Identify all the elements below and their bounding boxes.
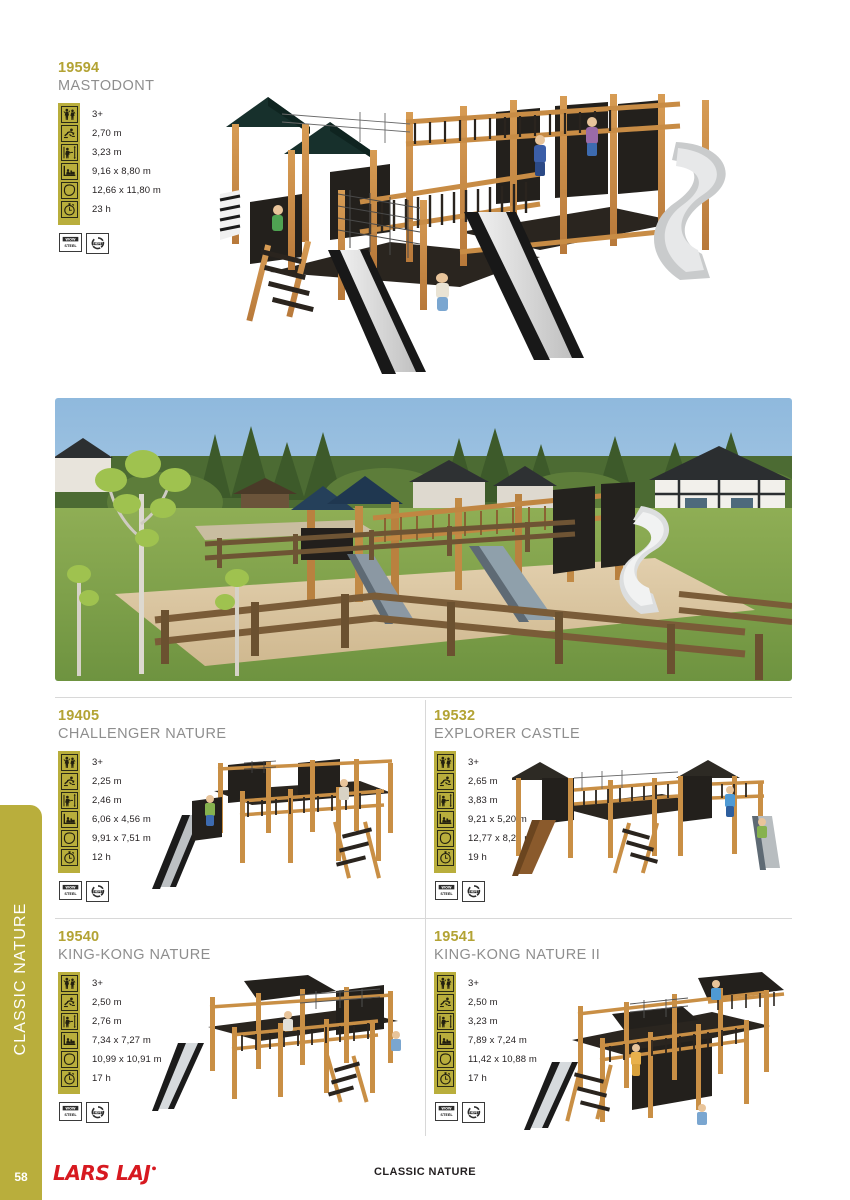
svg-text:WOW: WOW bbox=[65, 886, 76, 890]
fall-height-icon bbox=[61, 994, 78, 1011]
installation-time-icon bbox=[61, 201, 78, 218]
svg-text:WOW: WOW bbox=[65, 238, 76, 242]
footer-section-name: CLASSIC NATURE bbox=[0, 1166, 850, 1178]
spec-row bbox=[59, 124, 79, 143]
svg-text:HDPE: HDPE bbox=[94, 1111, 101, 1114]
spec-value: 2,70 m bbox=[92, 124, 122, 143]
spec-row bbox=[59, 200, 79, 219]
installation-time-icon bbox=[437, 1070, 454, 1087]
recycling-badge: HDPE bbox=[462, 1102, 485, 1123]
spec-row bbox=[435, 848, 455, 867]
spec-value: 3+ bbox=[92, 974, 103, 993]
wow-steel-badge: WOW STEEL bbox=[435, 881, 458, 900]
spec-value: 3,23 m bbox=[468, 1012, 498, 1031]
safety-zone-area-icon bbox=[437, 830, 454, 847]
spec-value: 6,06 x 4,56 m bbox=[92, 810, 151, 829]
spec-value: 2,50 m bbox=[92, 993, 122, 1012]
product-name: CHALLENGER NATURE bbox=[58, 726, 248, 742]
fall-height-icon bbox=[437, 994, 454, 1011]
spec-row bbox=[59, 829, 79, 848]
safety-zone-area-icon bbox=[61, 182, 78, 199]
spec-value: 3+ bbox=[468, 974, 479, 993]
product-code: 19541 bbox=[434, 929, 624, 945]
installation-time-icon bbox=[437, 849, 454, 866]
spec-icon-column bbox=[58, 751, 80, 873]
spec-value: 17 h bbox=[468, 1069, 487, 1088]
spec-value: 2,65 m bbox=[468, 772, 498, 791]
svg-text:HDPE: HDPE bbox=[470, 1111, 477, 1114]
product-render-king-kong-nature-ii bbox=[512, 962, 792, 1137]
spec-row bbox=[59, 848, 79, 867]
equipment-footprint-icon bbox=[61, 1032, 78, 1049]
spec-row bbox=[59, 143, 79, 162]
figure-child bbox=[391, 1031, 401, 1051]
product-name: EXPLORER CASTLE bbox=[434, 726, 624, 742]
certification-badges: WOW STEEL HDPE bbox=[59, 233, 109, 254]
certification-badges: WOW STEEL HDPE bbox=[435, 1102, 485, 1123]
equipment-height-icon bbox=[437, 1013, 454, 1030]
recycling-badge: HDPE bbox=[86, 881, 109, 902]
spec-row bbox=[435, 810, 455, 829]
safety-zone-area-icon bbox=[61, 830, 78, 847]
recycling-badge: HDPE bbox=[86, 1102, 109, 1123]
certification-badges: WOW STEEL HDPE bbox=[59, 881, 109, 902]
spec-row bbox=[59, 162, 79, 181]
product-name: KING-KONG NATURE II bbox=[434, 947, 624, 963]
spec-icon-column bbox=[434, 751, 456, 873]
equipment-footprint-icon bbox=[61, 163, 78, 180]
safety-zone-area-icon bbox=[437, 1051, 454, 1068]
product-render-king-kong-nature bbox=[148, 975, 416, 1125]
equipment-height-icon bbox=[437, 792, 454, 809]
column-divider bbox=[425, 700, 426, 1136]
spec-row bbox=[435, 1050, 455, 1069]
figure-child bbox=[339, 779, 349, 800]
product-name: KING-KONG NATURE bbox=[58, 947, 248, 963]
equipment-footprint-icon bbox=[61, 811, 78, 828]
installation-time-icon bbox=[61, 849, 78, 866]
spec-row bbox=[59, 1012, 79, 1031]
spec-row bbox=[59, 993, 79, 1012]
spec-value: 7,34 x 7,27 m bbox=[92, 1031, 151, 1050]
spec-row bbox=[435, 974, 455, 993]
spec-value: 9,16 x 8,80 m bbox=[92, 162, 151, 181]
wow-steel-badge: WOW STEEL bbox=[59, 233, 82, 252]
certification-badges: WOW STEEL HDPE bbox=[435, 881, 485, 902]
equipment-height-icon bbox=[61, 1013, 78, 1030]
spec-row bbox=[59, 105, 79, 124]
product-render-mastodont bbox=[210, 82, 750, 382]
spec-value: 2,25 m bbox=[92, 772, 122, 791]
spec-icon-column bbox=[434, 972, 456, 1094]
figure-child bbox=[205, 795, 215, 826]
spec-value: 3,83 m bbox=[468, 791, 498, 810]
spec-value: 17 h bbox=[92, 1069, 111, 1088]
figure-child bbox=[283, 1011, 293, 1031]
spec-value: 3+ bbox=[468, 753, 479, 772]
svg-text:HDPE: HDPE bbox=[94, 242, 101, 245]
spec-row bbox=[59, 181, 79, 200]
section-divider bbox=[55, 918, 792, 919]
spec-value: 2,50 m bbox=[468, 993, 498, 1012]
spec-icon-column bbox=[58, 972, 80, 1094]
spec-value: 9,91 x 7,51 m bbox=[92, 829, 151, 848]
spec-value: 19 h bbox=[468, 848, 487, 867]
equipment-height-icon bbox=[61, 792, 78, 809]
fall-height-icon bbox=[437, 773, 454, 790]
svg-text:WOW: WOW bbox=[441, 1107, 452, 1111]
age-group-icon bbox=[61, 106, 78, 123]
spec-value: 2,76 m bbox=[92, 1012, 122, 1031]
product-render-explorer-castle bbox=[512, 750, 784, 905]
spec-row bbox=[435, 753, 455, 772]
figure-child bbox=[631, 1044, 641, 1076]
safety-zone-area-icon bbox=[61, 1051, 78, 1068]
spec-row bbox=[435, 829, 455, 848]
spec-row bbox=[59, 791, 79, 810]
spec-value: 3+ bbox=[92, 105, 103, 124]
recycling-badge: HDPE bbox=[462, 881, 485, 902]
age-group-icon bbox=[437, 975, 454, 992]
spec-row bbox=[435, 1012, 455, 1031]
wow-steel-badge: WOW STEEL bbox=[435, 1102, 458, 1121]
catalog-page: 19594 MASTODONT 3+2,70 m3,23 m9,16 x 8,8… bbox=[0, 0, 850, 1200]
svg-text:STEEL: STEEL bbox=[440, 892, 453, 896]
section-tab-classic-nature[interactable]: CLASSIC NATURE bbox=[0, 805, 42, 1153]
spec-row bbox=[435, 1031, 455, 1050]
spec-row bbox=[59, 1050, 79, 1069]
product-code: 19405 bbox=[58, 708, 248, 724]
spec-row bbox=[59, 974, 79, 993]
spec-row bbox=[59, 1069, 79, 1088]
wow-steel-badge: WOW STEEL bbox=[59, 1102, 82, 1121]
svg-text:WOW: WOW bbox=[441, 886, 452, 890]
age-group-icon bbox=[437, 754, 454, 771]
product-code: 19594 bbox=[58, 60, 248, 76]
recycling-badge: HDPE bbox=[86, 233, 109, 254]
svg-text:STEEL: STEEL bbox=[64, 892, 77, 896]
equipment-footprint-icon bbox=[437, 811, 454, 828]
figure-child bbox=[272, 205, 283, 231]
svg-text:HDPE: HDPE bbox=[470, 890, 477, 893]
svg-text:STEEL: STEEL bbox=[64, 1113, 77, 1117]
svg-text:HDPE: HDPE bbox=[94, 890, 101, 893]
equipment-height-icon bbox=[61, 144, 78, 161]
figure-child bbox=[725, 786, 735, 817]
installation-photo bbox=[55, 398, 792, 681]
figure-child bbox=[711, 980, 721, 1000]
spec-icon-column bbox=[58, 103, 80, 225]
spec-row bbox=[59, 772, 79, 791]
age-group-icon bbox=[61, 975, 78, 992]
svg-text:STEEL: STEEL bbox=[440, 1113, 453, 1117]
age-group-icon bbox=[61, 754, 78, 771]
spec-value: 3+ bbox=[92, 753, 103, 772]
spec-row bbox=[59, 1031, 79, 1050]
spec-row bbox=[435, 993, 455, 1012]
svg-text:STEEL: STEEL bbox=[64, 244, 77, 248]
spec-value: 23 h bbox=[92, 200, 111, 219]
wow-steel-badge: WOW STEEL bbox=[59, 881, 82, 900]
product-code: 19532 bbox=[434, 708, 624, 724]
fall-height-icon bbox=[61, 125, 78, 142]
spec-row bbox=[435, 1069, 455, 1088]
page-footer: 58 LARS LAJ• CLASSIC NATURE bbox=[0, 1153, 850, 1200]
figure-child bbox=[534, 135, 546, 176]
svg-text:WOW: WOW bbox=[65, 1107, 76, 1111]
spec-value: 2,46 m bbox=[92, 791, 122, 810]
certification-badges: WOW STEEL HDPE bbox=[59, 1102, 109, 1123]
spec-row bbox=[435, 772, 455, 791]
spec-value: 3,23 m bbox=[92, 143, 122, 162]
figure-child bbox=[586, 117, 598, 156]
installation-time-icon bbox=[61, 1070, 78, 1087]
equipment-footprint-icon bbox=[437, 1032, 454, 1049]
figure-child bbox=[757, 818, 767, 838]
spec-row bbox=[59, 810, 79, 829]
product-render-challenger-nature bbox=[148, 755, 413, 905]
spec-row bbox=[59, 753, 79, 772]
figure-child bbox=[436, 273, 449, 311]
section-divider bbox=[55, 697, 792, 698]
spec-value: 12 h bbox=[92, 848, 111, 867]
spec-value: 12,66 x 11,80 m bbox=[92, 181, 161, 200]
fall-height-icon bbox=[61, 773, 78, 790]
product-code: 19540 bbox=[58, 929, 248, 945]
spec-row bbox=[435, 791, 455, 810]
section-tab-label: CLASSIC NATURE bbox=[12, 903, 30, 1056]
figure-child bbox=[697, 1104, 707, 1125]
